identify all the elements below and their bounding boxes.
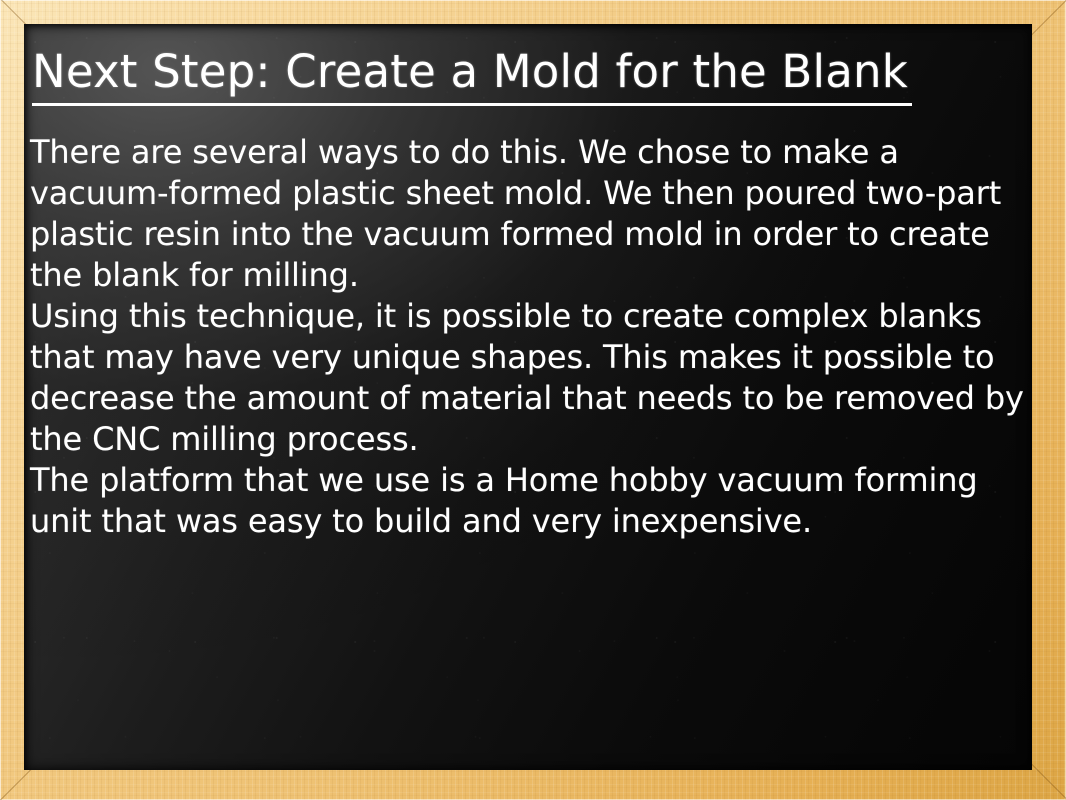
- slide-body: There are several ways to do this. We ch…: [30, 132, 1032, 542]
- body-paragraph-3: The platform that we use is a Home hobby…: [30, 460, 1032, 542]
- slide-content: Next Step: Create a Mold for the Blank T…: [24, 24, 1032, 770]
- chalkboard-surface: Next Step: Create a Mold for the Blank T…: [24, 24, 1032, 770]
- chalkboard-slide: Next Step: Create a Mold for the Blank T…: [0, 0, 1066, 800]
- body-paragraph-2: Using this technique, it is possible to …: [30, 296, 1032, 460]
- body-paragraph-1: There are several ways to do this. We ch…: [30, 132, 1032, 296]
- page-title: Next Step: Create a Mold for the Blank: [32, 46, 992, 106]
- page-title-text: Next Step: Create a Mold for the Blank: [32, 46, 912, 106]
